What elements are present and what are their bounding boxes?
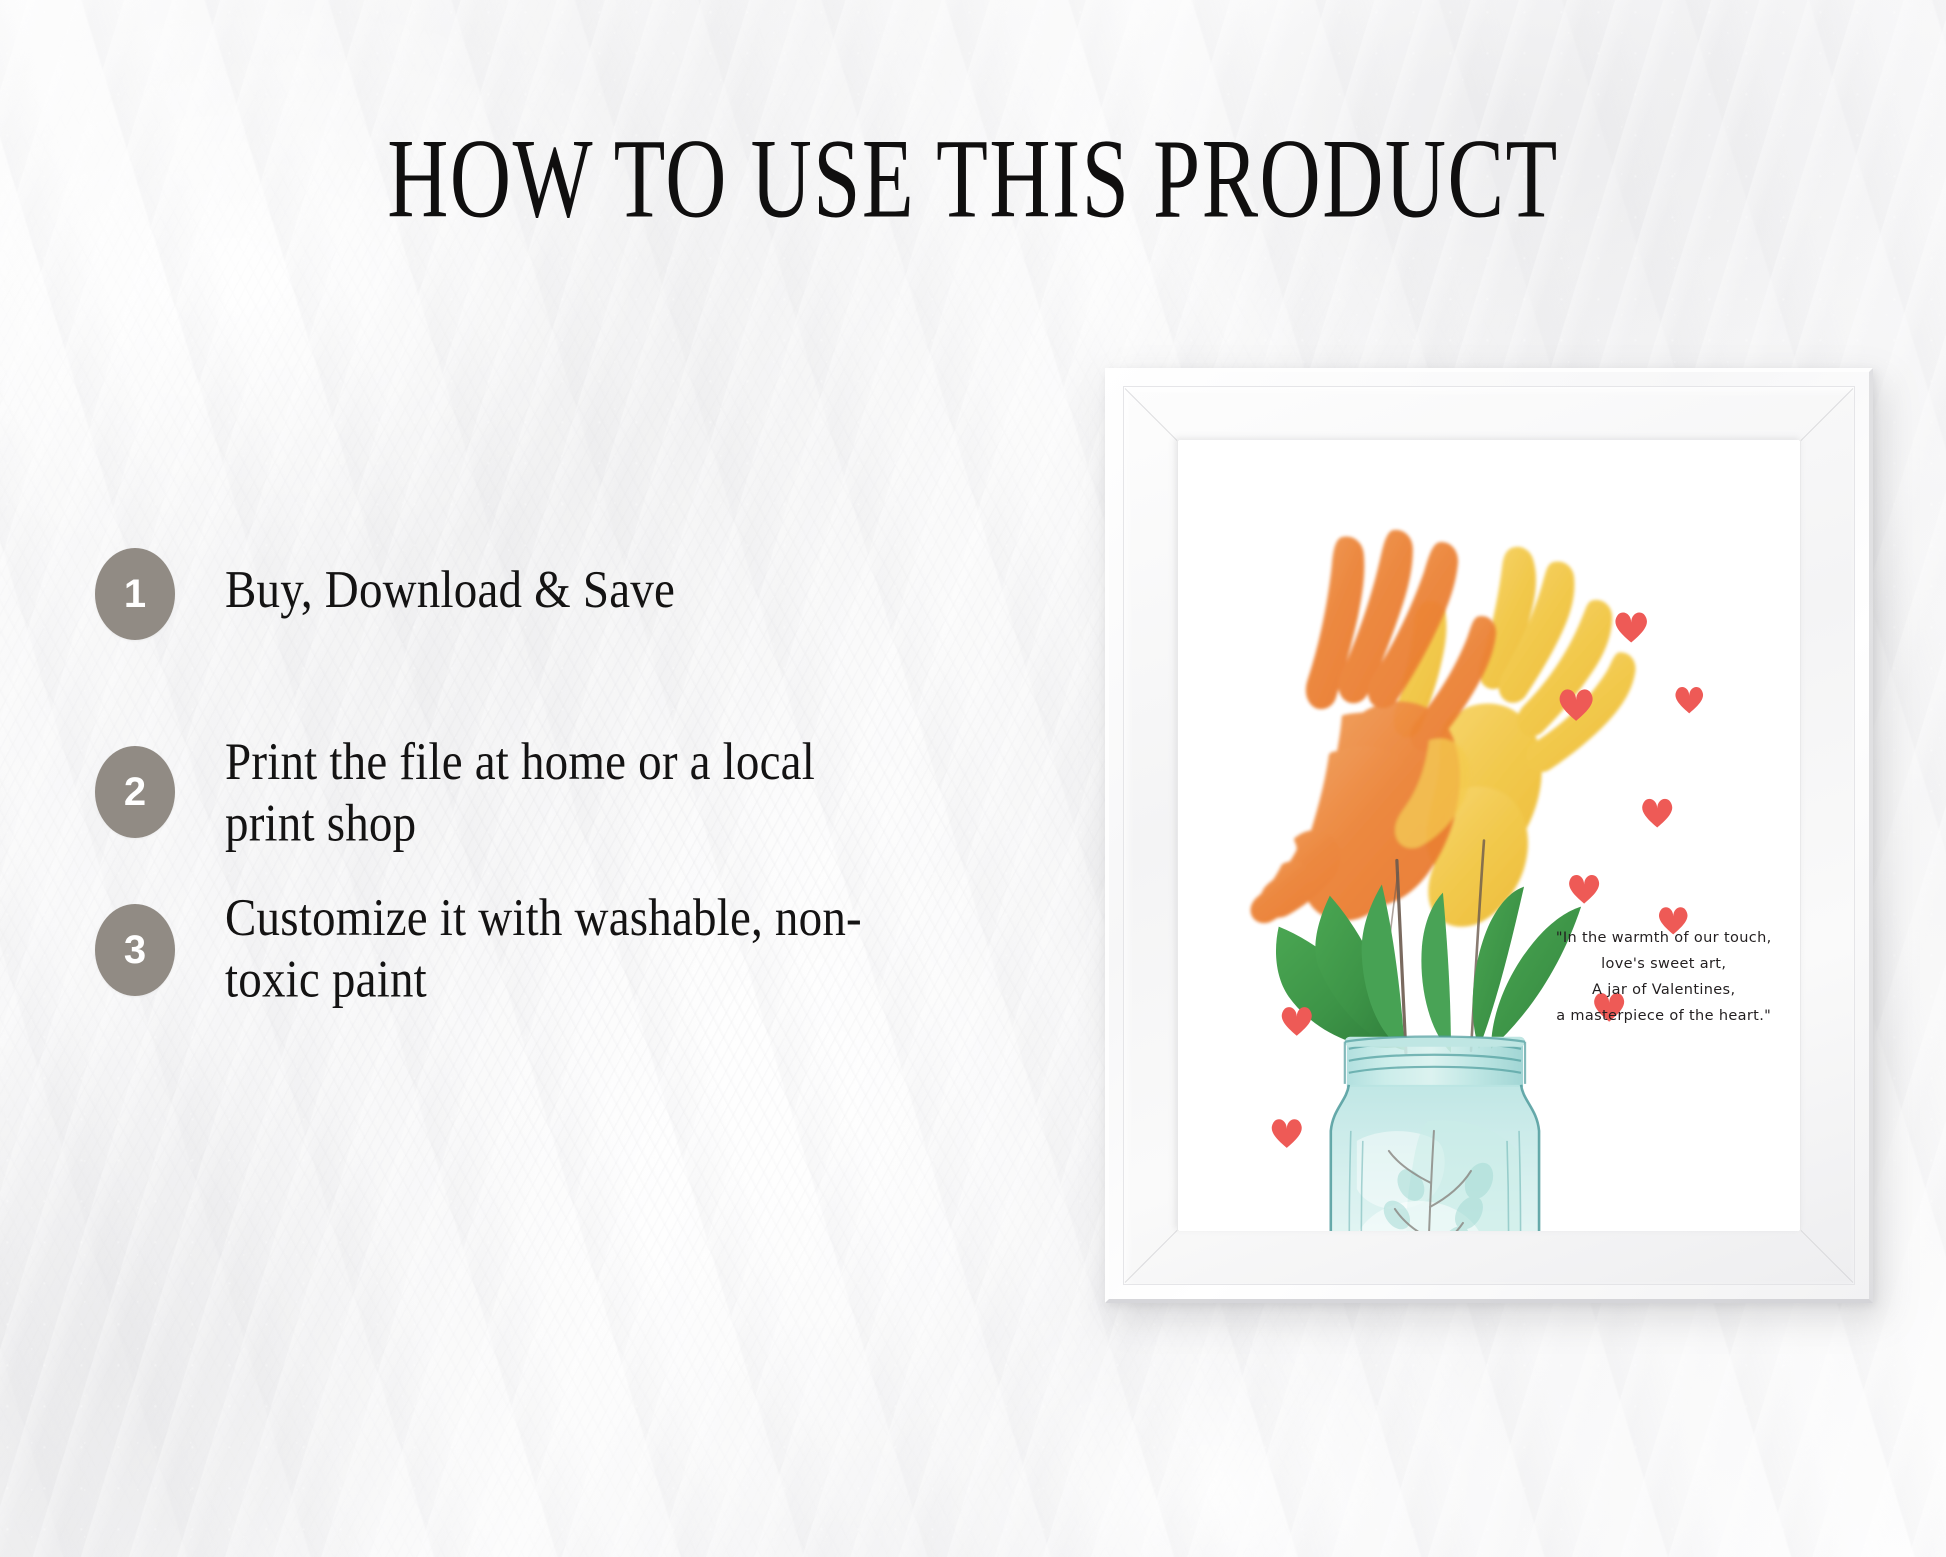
step-text-2: Print the file at home or a local print … [225,732,915,855]
step-text-1: Buy, Download & Save [225,560,915,622]
step-number-badge-1: 1 [95,548,175,640]
slide-canvas: HOW TO USE THIS PRODUCT 1 Buy, Download … [0,0,1946,1557]
frame-mat: "In the warmth of our touch, love's swee… [1177,440,1801,1231]
artwork-print: "In the warmth of our touch, love's swee… [1177,440,1801,1231]
step-number-badge-3: 3 [95,904,175,996]
page-title: HOW TO USE THIS PRODUCT [15,112,1932,244]
step-text-3: Customize it with washable, non-toxic pa… [225,888,915,1011]
quote-line-1: "In the warmth of our touch, [1526,926,1801,952]
quote-line-3: A jar of Valentines, [1526,978,1801,1004]
artwork-quote: "In the warmth of our touch, love's swee… [1526,926,1801,1029]
step-number-badge-2: 2 [95,746,175,838]
list-item-step-1: 1 Buy, Download & Save [95,560,915,678]
steps-list: 1 Buy, Download & Save 2 Print the file … [95,560,915,1034]
list-item-step-3: 3 Customize it with washable, non-toxic … [95,888,915,1006]
mason-jar [1331,1037,1539,1231]
quote-line-2: love's sweet art, [1526,952,1801,978]
picture-frame: "In the warmth of our touch, love's swee… [1105,368,1873,1303]
quote-line-4: a masterpiece of the heart." [1526,1004,1801,1030]
list-item-step-2: 2 Print the file at home or a local prin… [95,732,915,850]
artwork-illustration [1177,440,1801,1231]
